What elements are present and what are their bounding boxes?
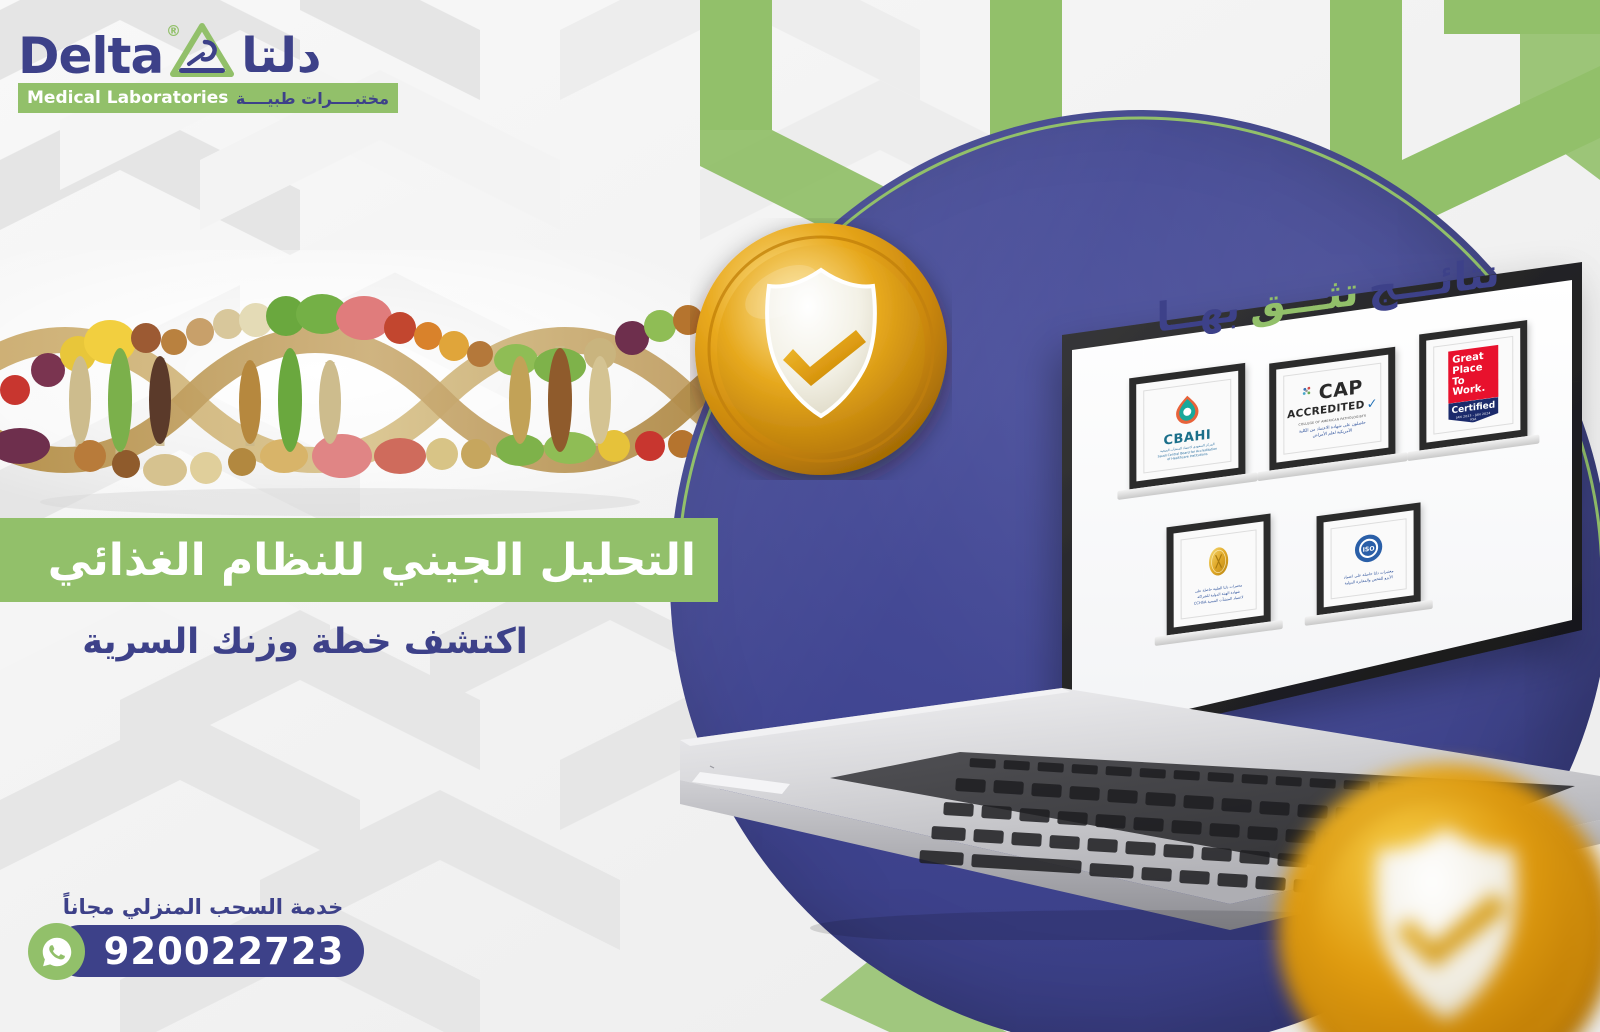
- laptop-screen-content: نتائـــج تثـــق بهــا: [1072, 216, 1585, 740]
- gold-shield-check-coin: [690, 218, 952, 480]
- logo-tagline-en: Medical Laboratories: [27, 88, 228, 108]
- gold-medal-icon: [1186, 540, 1252, 587]
- gold-shield-check-coin-blurred: [1250, 742, 1600, 1032]
- cap-check-icon: [1302, 384, 1316, 405]
- screen-headline-part-2: تثـــق: [1250, 269, 1359, 330]
- subtitle-text: اكتشف خطة وزنك السرية: [0, 622, 610, 662]
- headline-text: التحليل الجيني للنظام الغذائي: [48, 535, 696, 586]
- registered-trademark-icon: ®: [166, 22, 181, 40]
- logo-tagline-band: Medical Laboratories مختبــــرات طبيــــ…: [18, 83, 398, 113]
- certificate-cbahi[interactable]: CBAHI المركز السعودي لاعتماد المنشآت الص…: [1129, 363, 1245, 499]
- certificate-iso[interactable]: ISO مختبرات دلتا حاصلة على اعتماد الأيزو…: [1317, 502, 1421, 624]
- advertisement-canvas: Delta ® دلتا Medical Laboratories مختبــ…: [0, 0, 1600, 1032]
- screen-headline-part-1: نتائـــج: [1369, 250, 1500, 314]
- logo-tagline-ar: مختبــــرات طبيــــة: [236, 89, 389, 108]
- checkmark-icon: ✓: [1367, 396, 1378, 412]
- gptw-logo-text: Great Place To Work.: [1448, 345, 1498, 404]
- home-service-label: خدمة السحب المنزلي مجاناً: [28, 895, 388, 919]
- whatsapp-icon[interactable]: [28, 923, 85, 980]
- logo-name-ar: دلتا: [241, 34, 321, 80]
- certificate-gold-medal[interactable]: مختبرات دلتا الطبية حاصلة على شهادة الهي…: [1167, 514, 1271, 644]
- logo-name-en: Delta: [18, 33, 163, 81]
- phone-pill[interactable]: 920022723: [54, 925, 364, 977]
- logo-wordmark-row: Delta ® دلتا: [18, 18, 398, 80]
- headline-band: التحليل الجيني للنظام الغذائي: [0, 518, 718, 602]
- hero-scene: نتائـــج تثـــق بهــا: [680, 0, 1600, 1032]
- dna-food-helix-image: [0, 250, 760, 520]
- phone-number: 920022723: [74, 930, 345, 973]
- certificate-great-place-to-work[interactable]: Great Place To Work. Certified JAN 2023 …: [1419, 320, 1527, 460]
- contact-block: خدمة السحب المنزلي مجاناً 920022723: [28, 895, 388, 1005]
- great-place-to-work-badge-icon: Great Place To Work. Certified JAN 2023 …: [1448, 345, 1498, 426]
- brand-logo[interactable]: Delta ® دلتا Medical Laboratories مختبــ…: [18, 18, 398, 113]
- iso-seal-icon: ISO: [1336, 529, 1402, 572]
- certificate-cap[interactable]: CAP ACCREDITED ✓ COLLEGE OF AMERICAN PAT…: [1269, 346, 1395, 479]
- screen-headline-part-3: بهــا: [1156, 284, 1240, 341]
- certificates-row-2: مختبرات دلتا الطبية حاصلة على شهادة الهي…: [1073, 472, 1585, 657]
